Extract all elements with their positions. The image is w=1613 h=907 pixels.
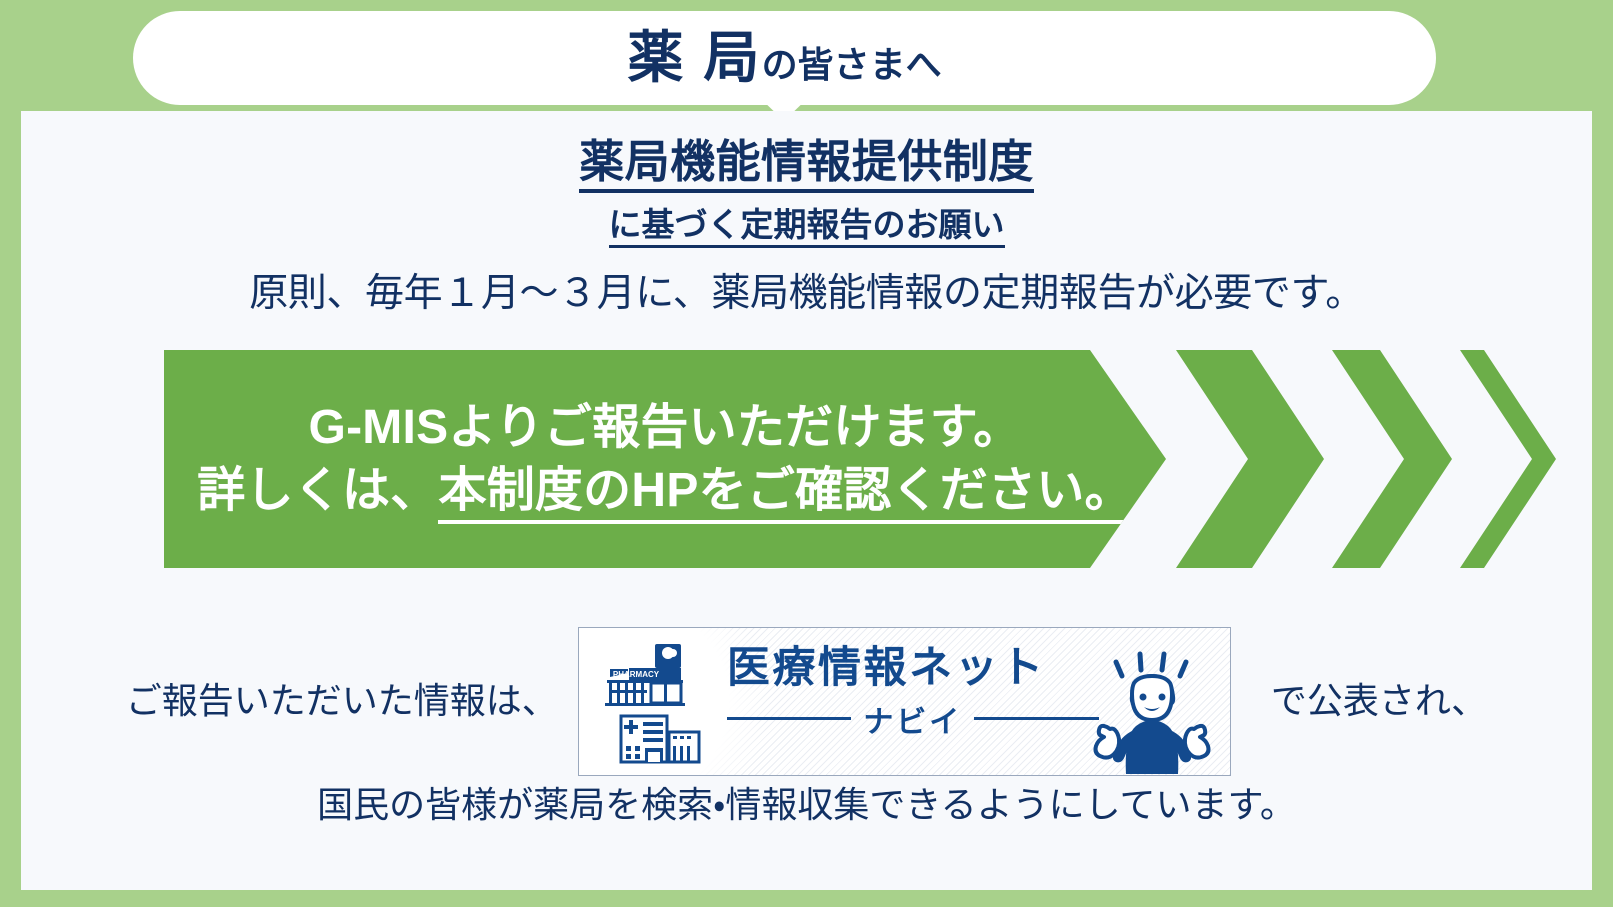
chevron-right-icon-3 (1460, 350, 1556, 568)
page-subtitle-text: に基づく定期報告のお願い (609, 206, 1005, 248)
page-title-text: 薬局機能情報提供制度 (579, 136, 1034, 193)
page-subtitle: に基づく定期報告のお願い (21, 206, 1592, 244)
banner-line-2: 詳しくは、本制度のHPをご確認ください。 (197, 459, 1132, 522)
audience-suffix-label: の皆さまへ (762, 47, 942, 83)
iryo-joho-net-logo[interactable]: PHARMACY (578, 627, 1231, 776)
logo-rule-left (727, 717, 852, 720)
chevron-right-icon-2 (1332, 350, 1452, 568)
page-title: 薬局機能情報提供制度 (21, 136, 1592, 188)
audience-pill: 薬 局 の皆さまへ (133, 11, 1436, 105)
logo-title: 医療情報ネット (727, 644, 1087, 693)
call-to-action-banner: G-MISよりご報告いただけます。 詳しくは、本制度のHPをご確認ください。 (164, 350, 1467, 568)
pharmacy-sign-text: PHARMACY (613, 670, 660, 679)
closing-statement: 国民の皆様が薬局を検索・情報収集できるようにしています。 (21, 783, 1592, 826)
publication-text-after: で公表され、 (1271, 679, 1487, 722)
banner-hp-link[interactable]: 本制度のHPをご確認ください。 (438, 464, 1132, 524)
logo-rule-right (974, 717, 1099, 720)
logo-wordmark: 医療情報ネット ナビイ (727, 644, 1087, 741)
logo-subtitle-row: ナビイ (727, 697, 1099, 741)
intro-statement: 原則、毎年１月〜３月に、薬局機能情報の定期報告が必要です。 (21, 271, 1592, 318)
banner-line-2-prefix: 詳しくは、 (197, 464, 438, 517)
header-banner: 薬 局 の皆さまへ (0, 0, 1613, 118)
banner-line-1: G-MISよりご報告いただけます。 (309, 396, 1022, 459)
cheering-person-icon (1082, 634, 1222, 774)
publication-text-before: ご報告いただいた情報は、 (126, 679, 558, 722)
main-panel: 薬局機能情報提供制度 に基づく定期報告のお願い 原則、毎年１月〜３月に、薬局機能… (21, 111, 1592, 890)
publication-row: ご報告いただいた情報は、 (21, 621, 1592, 781)
banner-body: G-MISよりご報告いただけます。 詳しくは、本制度のHPをご確認ください。 (164, 350, 1166, 568)
chevron-right-icon-1 (1176, 350, 1324, 568)
logo-subtitle: ナビイ (851, 697, 974, 741)
audience-main-label: 薬 局 (627, 30, 761, 86)
pharmacy-building-icon: PHARMACY (593, 640, 713, 765)
